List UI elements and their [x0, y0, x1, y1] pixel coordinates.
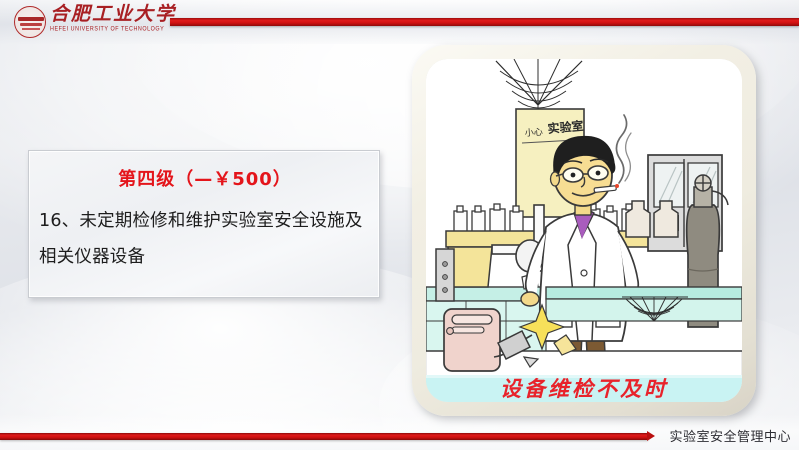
violation-description: 16、未定期检修和维护实验室安全设施及相关仪器设备	[39, 203, 373, 275]
university-logo: 合肥工业大学 HEFEI UNIVERSITY OF TECHNOLOGY	[8, 2, 176, 42]
penalty-level-title: 第四级（—￥500）	[29, 165, 381, 191]
svg-text:小心: 小心	[524, 127, 543, 139]
lab-safety-cartoon: 小心 实验室	[426, 59, 742, 402]
university-name-cn: 合肥工业大学	[50, 3, 176, 25]
content-text-panel: 第四级（—￥500） 16、未定期检修和维护实验室安全设施及相关仪器设备	[28, 150, 380, 298]
university-name-en: HEFEI UNIVERSITY OF TECHNOLOGY	[50, 26, 164, 33]
svg-text:实验室: 实验室	[547, 118, 584, 136]
header-accent-bar	[170, 18, 799, 26]
university-seal-icon	[14, 6, 46, 38]
illustration-frame: 小心 实验室	[412, 45, 756, 416]
footer-organization-label: 实验室安全管理中心	[669, 426, 791, 445]
illustration-inner: 小心 实验室	[426, 59, 742, 402]
slide-header: 合肥工业大学 HEFEI UNIVERSITY OF TECHNOLOGY	[0, 0, 799, 44]
illustration-caption: 设备维检不及时	[500, 377, 669, 401]
footer-accent-bar	[0, 433, 648, 440]
slide-canvas: 合肥工业大学 HEFEI UNIVERSITY OF TECHNOLOGY 第四…	[0, 0, 799, 450]
